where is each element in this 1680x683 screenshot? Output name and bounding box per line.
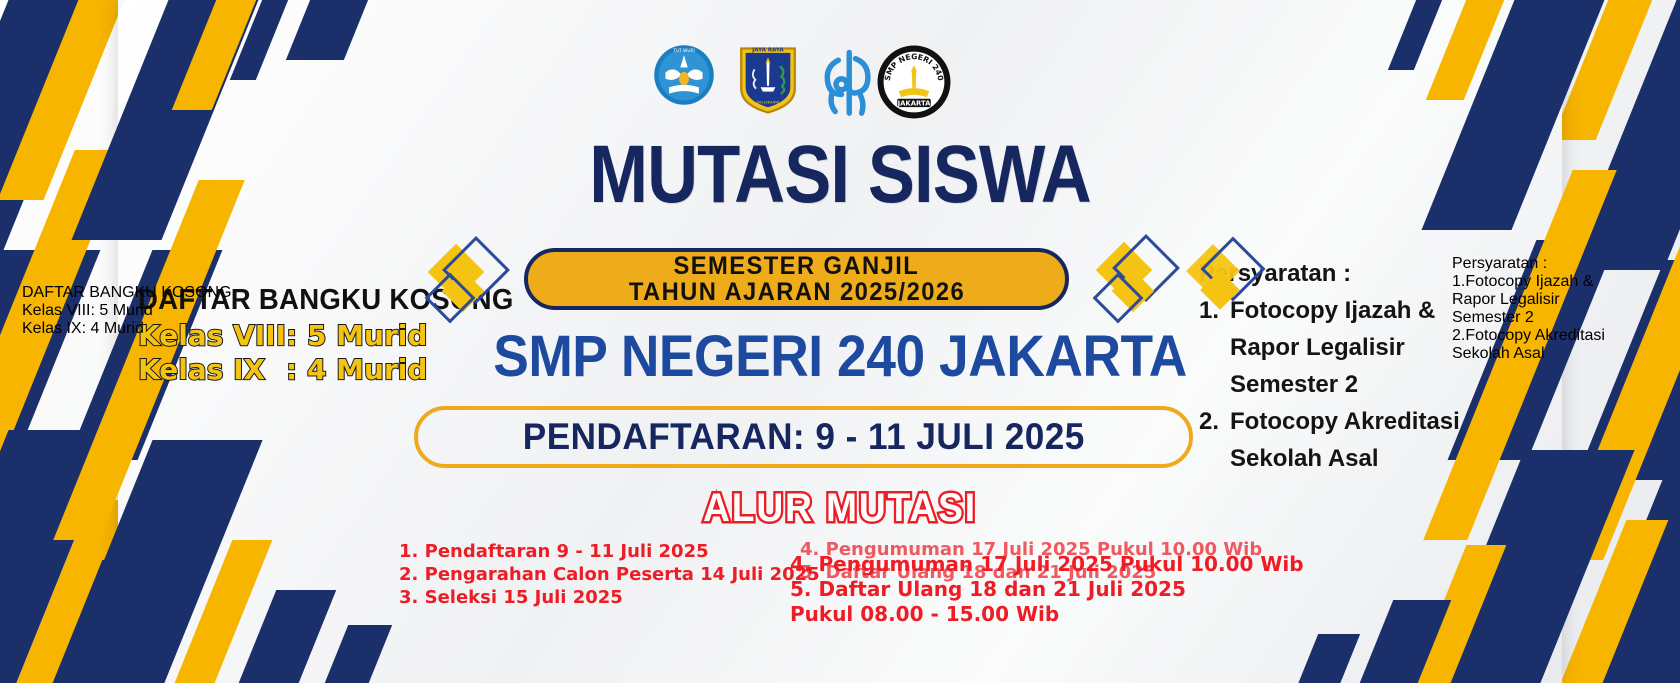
semester-banner: SEMESTER GANJIL TAHUN AJARAN 2025/2026 [524, 248, 1069, 310]
flow-step: 3. Seleksi 15 Juli 2025 [399, 586, 820, 609]
requirement-line: Fotocopy Akreditasi [1230, 403, 1460, 440]
vacancy-ghost-row: Kelas IX: 4 Murid [22, 320, 232, 338]
jakarta-provincial-emblem-logo: JAYA RAYA DKI JAKARTA [738, 44, 798, 114]
registration-text: PENDAFTARAN: 9 - 11 JULI 2025 [522, 416, 1084, 458]
flow-step: Pukul 08.00 - 15.00 Wib [790, 602, 1304, 627]
page-title: MUTASI SISWA [118, 132, 1563, 218]
flow-step: 5. Daftar Ulang 18 dan 21 Juli 2025 [790, 577, 1304, 602]
vacancy-ghost-block: DAFTAR BANGKU KOSONG Kelas VIII: 5 Murid… [22, 284, 232, 338]
poster-canvas: DAFTAR BANGKU KOSONG Kelas VIII: 5 Murid… [0, 0, 1680, 683]
svg-text:JAKARTA: JAKARTA [897, 100, 931, 108]
flow-step: 4. Pengumuman 17 Juli 2025 Pukul 10.00 W… [790, 552, 1304, 577]
dki-jakarta-education-logo [815, 44, 885, 120]
requirement-line: Sekolah Asal [1199, 440, 1499, 477]
vacancy-row-label: Kelas IX [138, 355, 286, 385]
flow-title: ALUR MUTASI [59, 486, 1621, 531]
requirements-ghost-block: Persyaratan : 1.Fotocopy Ijazah & Rapor … [1452, 255, 1680, 363]
svg-text:JAYA RAYA: JAYA RAYA [751, 47, 784, 53]
semester-line-1: SEMESTER GANJIL [674, 253, 920, 279]
flow-step: 1. Pendaftaran 9 - 11 Juli 2025 [399, 540, 820, 563]
vacancy-ghost-heading: DAFTAR BANGKU KOSONG [22, 284, 232, 302]
vacancy-row: Kelas IX: 4 Murid [138, 355, 533, 385]
requirements-ghost-heading: Persyaratan : [1452, 255, 1680, 273]
tut-wuri-handayani-logo: TUT WURI [653, 44, 715, 106]
requirement-number: 2. [1199, 403, 1223, 440]
requirement-line: Fotocopy Ijazah & [1230, 292, 1435, 329]
requirement-line: Semester 2 [1199, 366, 1499, 403]
vacancy-row-value: : 5 Murid [286, 319, 427, 352]
flow-steps-left: 1. Pendaftaran 9 - 11 Juli 2025 2. Penga… [399, 540, 820, 609]
registration-banner: PENDAFTARAN: 9 - 11 JULI 2025 [414, 406, 1193, 468]
requirement-item: 2. Fotocopy Akreditasi [1199, 403, 1499, 440]
vacancy-ghost-row: Kelas VIII: 5 Murid [22, 302, 232, 320]
vacancy-row-value: : 4 Murid [286, 353, 427, 386]
flow-step: 2. Pengarahan Calon Peserta 14 Juli 2025 [399, 563, 820, 586]
smp-negeri-240-jakarta-seal-logo: SMP NEGERI 240 JAKARTA [876, 44, 952, 120]
flow-steps-right: 4. Pengumuman 17 Juli 2025 Pukul 10.00 W… [790, 552, 1304, 627]
svg-text:DKI JAKARTA: DKI JAKARTA [757, 101, 780, 105]
svg-text:TUT WURI: TUT WURI [672, 48, 695, 54]
semester-line-2: TAHUN AJARAN 2025/2026 [628, 279, 964, 306]
